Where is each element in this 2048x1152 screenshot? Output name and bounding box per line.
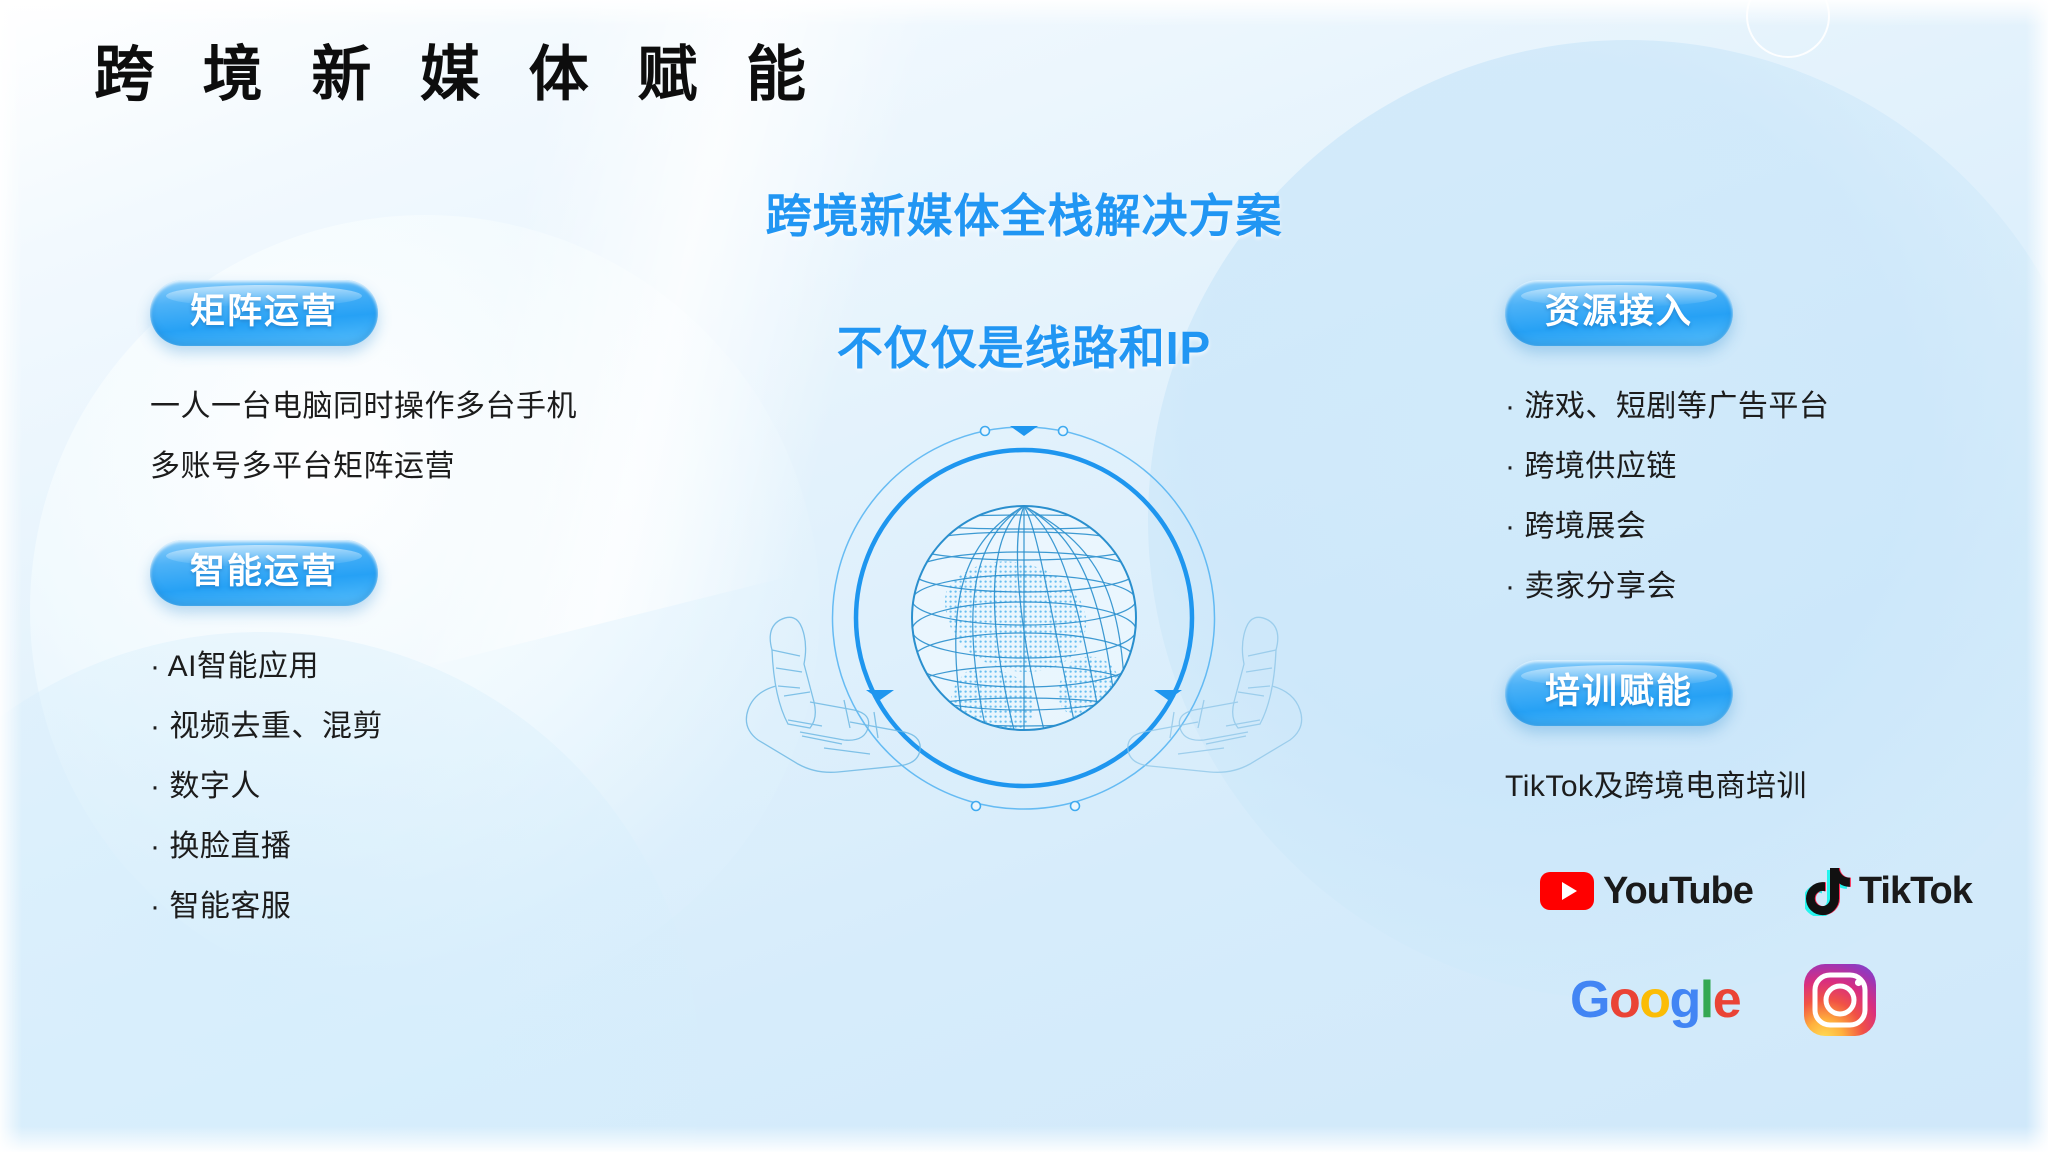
google-logo[interactable]: Google [1570,974,1740,1026]
globe-in-hands-illustration [714,400,1334,850]
platform-logo-row-bottom: Google [1570,962,1878,1038]
center-heading-primary: 跨境新媒体全栈解决方案 [0,180,2048,246]
right-content-column: 资源接入 · 游戏、短剧等广告平台 · 跨境供应链 · 跨境展会 · 卖家分享会… [1505,280,1829,802]
training-description: TikTok及跨境电商培训 [1505,772,1829,802]
pill-smart-operation[interactable]: 智能运营 [150,540,378,606]
feature-group-resource-access: 资源接入 · 游戏、短剧等广告平台 · 跨境供应链 · 跨境展会 · 卖家分享会 [1505,280,1829,602]
page-title: 跨 境 新 媒 体 赋 能 [94,42,822,108]
list-item: 多账号多平台矩阵运营 [150,452,577,482]
tiktok-logo[interactable]: TikTok [1805,866,1972,916]
youtube-wordmark: YouTube [1603,870,1753,913]
pill-resource-access[interactable]: 资源接入 [1505,280,1733,346]
list-item: · 卖家分享会 [1505,572,1829,602]
tiktok-note-icon [1805,866,1851,916]
decorative-ring-icon [1746,0,1830,58]
slide-canvas: 跨 境 新 媒 体 赋 能 跨境新媒体全栈解决方案 不仅仅是线路和IP [0,0,2048,1152]
list-item: · 游戏、短剧等广告平台 [1505,392,1829,422]
feature-group-matrix-operation: 矩阵运营 一人一台电脑同时操作多台手机 多账号多平台矩阵运营 [150,280,577,482]
list-item: · 换脸直播 [150,832,577,862]
list-item: · 智能客服 [150,892,577,922]
tiktok-wordmark: TikTok [1859,870,1972,913]
list-item: · 跨境供应链 [1505,452,1829,482]
list-item: · 数字人 [150,772,577,802]
list-item: · AI智能应用 [150,652,577,682]
left-content-column: 矩阵运营 一人一台电脑同时操作多台手机 多账号多平台矩阵运营 智能运营 · AI… [150,280,577,922]
youtube-play-icon [1540,872,1594,910]
youtube-logo[interactable]: YouTube [1540,870,1753,913]
list-item: 一人一台电脑同时操作多台手机 [150,392,577,422]
list-item: · 跨境展会 [1505,512,1829,542]
pill-training-empowerment[interactable]: 培训赋能 [1505,660,1733,726]
instagram-logo[interactable] [1802,962,1878,1038]
pill-matrix-operation[interactable]: 矩阵运营 [150,280,378,346]
platform-logo-row-top: YouTube TikTok [1540,866,1972,916]
list-item: · 视频去重、混剪 [150,712,577,742]
feature-group-smart-operation: 智能运营 · AI智能应用 · 视频去重、混剪 · 数字人 · 换脸直播 · 智… [150,540,577,922]
feature-group-training-empowerment: 培训赋能 TikTok及跨境电商培训 [1505,660,1829,802]
